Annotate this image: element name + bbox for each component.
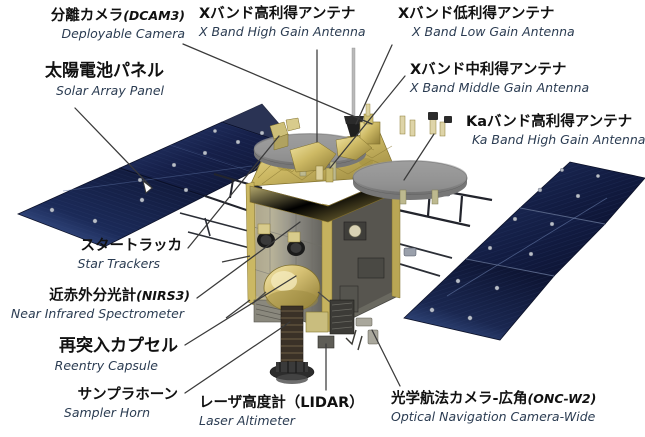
label-ka-band-hga-jp: Kaバンド高利得アンテナ — [466, 114, 645, 131]
label-dcam3: 分離カメラ(DCAM3) Deployable Camera — [0, 8, 185, 41]
diagram-canvas: 分離カメラ(DCAM3) Deployable Camera Xバンド高利得アン… — [0, 0, 645, 437]
misc-booms — [222, 256, 250, 318]
label-star-trackers: スタートラッカ Star Trackers — [0, 238, 182, 271]
label-x-band-hga-en: X Band High Gain Antenna — [199, 24, 366, 39]
lidar-unit — [318, 336, 334, 348]
label-reentry-capsule-en: Reentry Capsule — [0, 358, 178, 373]
label-x-band-hga-jp: Xバンド高利得アンテナ — [199, 6, 366, 23]
label-solar-array-panel-jp: 太陽電池パネル — [0, 62, 164, 82]
label-lidar-en: Laser Altimeter — [199, 413, 364, 428]
label-x-band-mga-jp: Xバンド中利得アンテナ — [410, 62, 589, 79]
label-solar-array-panel-en: Solar Array Panel — [0, 83, 164, 98]
label-star-trackers-en: Star Trackers — [0, 256, 182, 271]
label-lidar-jp: レーザ高度計（LIDAR） — [199, 395, 364, 412]
label-x-band-mga-en: X Band Middle Gain Antenna — [410, 80, 589, 95]
label-x-band-hga: Xバンド高利得アンテナ X Band High Gain Antenna — [199, 6, 366, 39]
label-ka-band-hga-en: Ka Band High Gain Antenna — [466, 132, 645, 147]
label-ka-band-hga: Kaバンド高利得アンテナ Ka Band High Gain Antenna — [466, 114, 645, 147]
label-x-band-mga: Xバンド中利得アンテナ X Band Middle Gain Antenna — [410, 62, 589, 95]
label-reentry-capsule-jp: 再突入カプセル — [0, 337, 178, 357]
label-lidar: レーザ高度計（LIDAR） Laser Altimeter — [199, 395, 364, 428]
label-sampler-horn: サンプラホーン Sampler Horn — [0, 387, 178, 420]
label-onc-w2-en: Optical Navigation Camera-Wide — [391, 409, 596, 424]
label-x-band-lga-en: X Band Low Gain Antenna — [398, 24, 575, 39]
label-dcam3-jp: 分離カメラ(DCAM3) — [0, 8, 185, 25]
label-x-band-lga: Xバンド低利得アンテナ X Band Low Gain Antenna — [398, 6, 575, 39]
label-x-band-lga-jp: Xバンド低利得アンテナ — [398, 6, 575, 23]
label-sampler-horn-jp: サンプラホーン — [0, 387, 178, 404]
label-star-trackers-jp: スタートラッカ — [0, 238, 182, 255]
label-onc-w2-jp: 光学航法カメラ-広角(ONC-W2) — [391, 391, 596, 408]
label-nirs3: 近赤外分光計(NIRS3) Near Infrared Spectrometer — [0, 288, 190, 321]
label-nirs3-en: Near Infrared Spectrometer — [0, 306, 190, 321]
label-sampler-horn-en: Sampler Horn — [0, 405, 178, 420]
label-dcam3-en: Deployable Camera — [0, 26, 185, 41]
label-onc-w2: 光学航法カメラ-広角(ONC-W2) Optical Navigation Ca… — [391, 391, 596, 424]
label-nirs3-jp: 近赤外分光計(NIRS3) — [0, 288, 190, 305]
label-solar-array-panel: 太陽電池パネル Solar Array Panel — [0, 62, 164, 98]
label-reentry-capsule: 再突入カプセル Reentry Capsule — [0, 337, 178, 373]
